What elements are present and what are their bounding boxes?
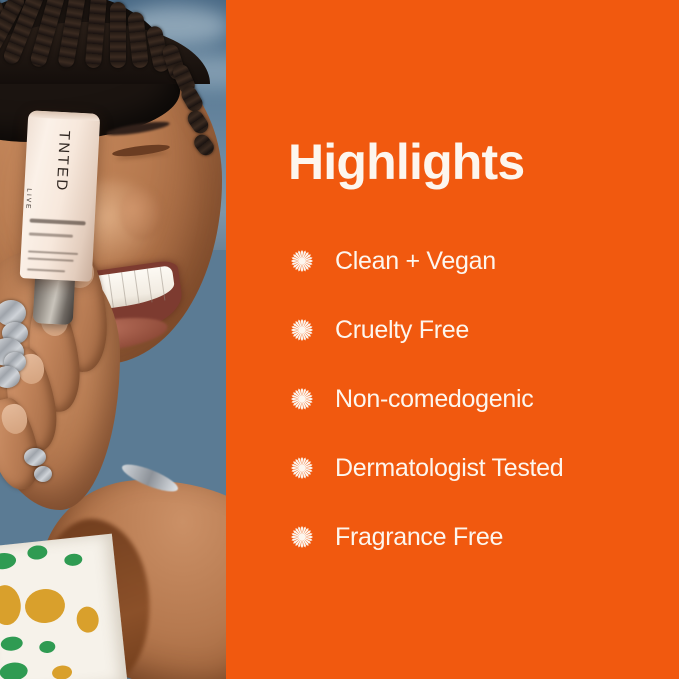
sunburst-icon [286,245,318,277]
highlight-item: Dermatologist Tested [286,433,666,502]
highlight-item: Non-comedogenic [286,364,666,433]
sunburst-icon [286,383,318,415]
tube-subtitle-line [29,232,73,237]
highlights-list: Clean + VeganCruelty FreeNon-comedogenic… [286,226,666,571]
highlight-label: Dermatologist Tested [335,453,563,483]
model-photo: TNTED LIVE [0,0,226,679]
shirt-pattern-blob [23,587,66,625]
tube-brand-block: TNTED [26,120,100,202]
highlight-label: Non-comedogenic [335,384,533,414]
nose [120,188,164,240]
tube-product-name-line [30,218,86,225]
tube-brand-name: TNTED [53,130,73,193]
highlight-label: Fragrance Free [335,522,503,552]
shirt-pattern-blob [0,552,17,571]
silver-ring [24,448,46,466]
sunburst-icon [286,452,318,484]
highlight-item: Clean + Vegan [286,226,666,295]
tube-volume-line [27,268,65,272]
shirt-pattern-blob [27,544,48,560]
tube-fineprint-line [28,257,74,261]
shirt-pattern-blob [0,661,29,679]
product-tube: TNTED LIVE [20,110,101,282]
product-highlights-graphic: TNTED LIVE Highlights Clean + VeganCruel… [0,0,679,679]
highlight-label: Cruelty Free [335,315,469,345]
sunburst-icon [286,314,318,346]
shirt-pattern-blob [64,553,83,567]
shirt-pattern-blob [0,636,23,652]
highlight-item: Cruelty Free [286,295,666,364]
shirt-pattern-blob [51,665,72,679]
tube-fineprint-line [28,250,78,255]
braid [110,2,126,68]
sunburst-icon [286,521,318,553]
highlight-item: Fragrance Free [286,502,666,571]
patterned-shirt [0,534,127,679]
shirt-pattern-blob [75,606,100,634]
shirt-pattern-blob [39,640,56,654]
page-title: Highlights [288,134,524,190]
shirt-pattern-blob [0,584,23,627]
highlight-label: Clean + Vegan [335,246,496,276]
silver-ring [34,466,52,482]
tube-brand-prefix: LIVE [24,188,32,210]
highlights-panel: Highlights Clean + VeganCruelty FreeNon-… [227,0,679,679]
